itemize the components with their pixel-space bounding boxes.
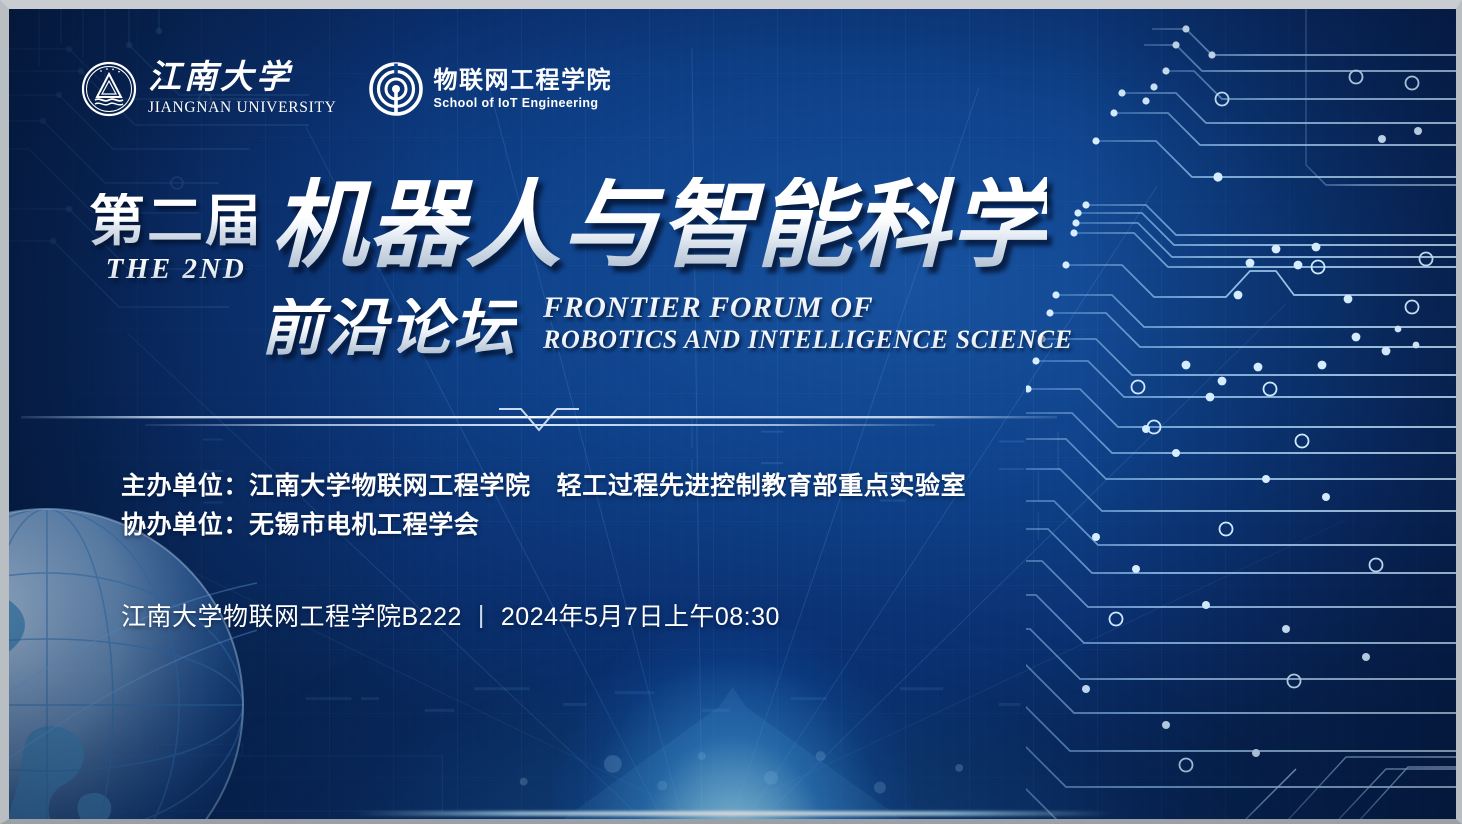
co-label: 协办单位： — [121, 511, 249, 539]
logo-jiangnan-cn: 江南大学 — [148, 62, 337, 95]
subhead-en: FRONTIER FORUM OF ROBOTICS AND INTELLIGE… — [543, 290, 1073, 360]
headline-cn: 机器人与智能科学 — [271, 177, 1047, 275]
logo-iot-school: 物联网工程学院 School of IoT Engineering — [369, 62, 613, 116]
title-block: 第二届 THE 2ND 机器人与智能科学 前沿论坛 FRONTIER FORUM… — [9, 177, 1069, 360]
coorganizer-line: 协办单位：无锡市电机工程学会 — [121, 506, 966, 545]
ordinal-group: 第二届 THE 2ND — [83, 177, 269, 284]
jiangnan-university-seal-icon — [81, 61, 137, 117]
host-org-1: 江南大学物联网工程学院 — [249, 472, 531, 500]
ornamental-divider — [9, 399, 1069, 439]
logo-jiangnan-en: JIANGNAN UNIVERSITY — [148, 100, 337, 116]
host-line: 主办单位：江南大学物联网工程学院轻工过程先进控制教育部重点实验室 — [121, 467, 966, 506]
host-label: 主办单位： — [121, 472, 249, 500]
poster-canvas: 江南大学 JIANGNAN UNIVERSITY — [0, 0, 1462, 824]
ordinal-cn: 第二届 — [89, 193, 263, 249]
venue-datetime: 2024年5月7日上午08:30 — [501, 597, 780, 633]
logo-iot-en: School of IoT Engineering — [434, 97, 613, 110]
logo-bar: 江南大学 JIANGNAN UNIVERSITY — [81, 61, 612, 117]
logo-jiangnan-university: 江南大学 JIANGNAN UNIVERSITY — [81, 61, 337, 117]
logo-iot-cn: 物联网工程学院 — [434, 69, 613, 93]
iot-school-rings-icon — [369, 62, 423, 116]
subhead-cn: 前沿论坛 — [261, 298, 517, 360]
venue-separator: | — [478, 601, 485, 630]
co-org-1: 无锡市电机工程学会 — [249, 511, 479, 539]
venue-block: 江南大学物联网工程学院B222 | 2024年5月7日上午08:30 — [121, 597, 780, 633]
subhead-en-line2: ROBOTICS AND INTELLIGENCE SCIENCE — [543, 325, 1073, 356]
venue-place: 江南大学物联网工程学院B222 — [121, 597, 462, 633]
organizer-block: 主办单位：江南大学物联网工程学院轻工过程先进控制教育部重点实验室 协办单位：无锡… — [121, 467, 966, 545]
ordinal-en: THE 2ND — [106, 255, 247, 284]
subhead-en-line1: FRONTIER FORUM OF — [543, 290, 1073, 325]
host-org-2: 轻工过程先进控制教育部重点实验室 — [557, 472, 967, 500]
